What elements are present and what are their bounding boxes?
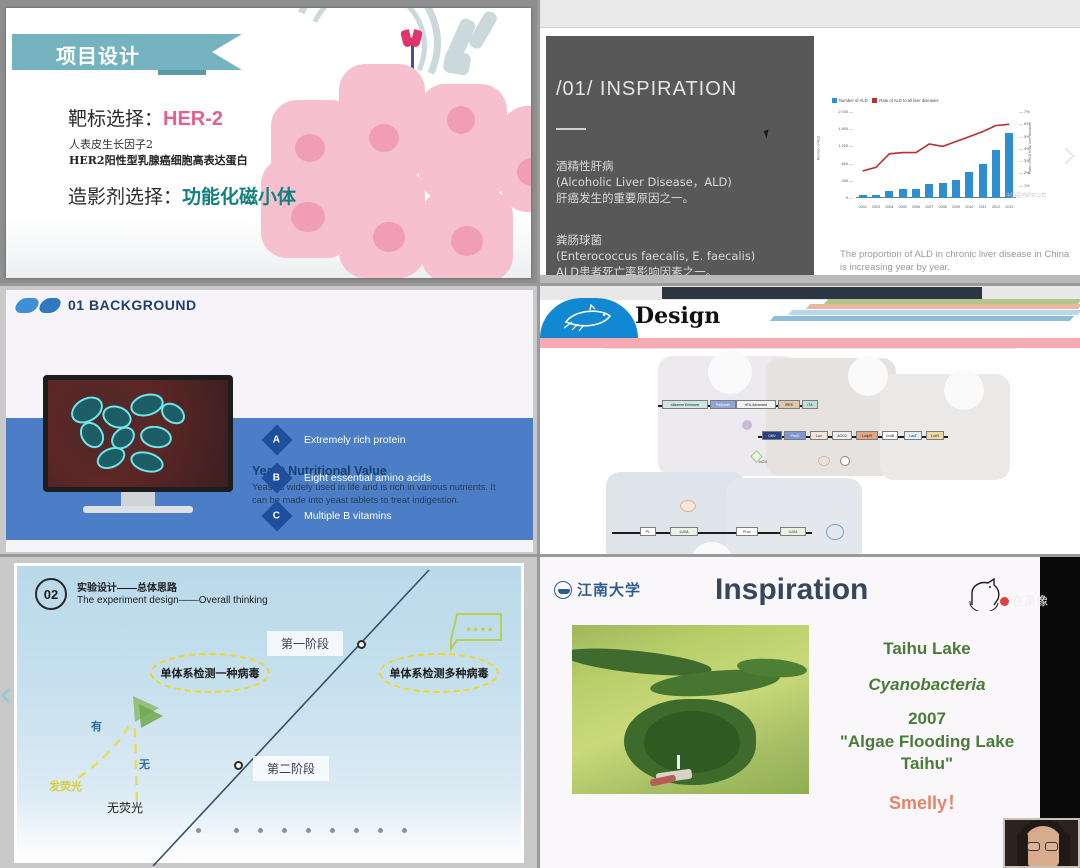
slide-panel-design[interactable]: Design Albumen Enhancer Palbumin (540, 286, 1080, 554)
gene-box-r3-0: PL (640, 527, 656, 536)
university-logo: 江南大学 (554, 579, 641, 600)
slide-dot[interactable] (196, 828, 201, 833)
header-accent-bars (16, 298, 62, 314)
experiment-title-cn: 实验设计——总体思路 (77, 579, 177, 594)
target-selection-value: HER-2 (163, 108, 223, 130)
gene-box-r1-0: Albumen Enhancer (662, 400, 708, 409)
chart-xtick: 2011 (976, 205, 990, 209)
contrast-agent-value: 功能化磁小体 (182, 186, 296, 208)
monitor-illustration (43, 375, 233, 500)
team-logo-whale-icon (540, 298, 638, 338)
slide-title-1: 项目设计 (56, 40, 140, 69)
bullet-a-label: Extremely rich protein (304, 434, 406, 446)
chart-bar (859, 195, 867, 198)
chart-y-axis-title: Number of ALD (816, 136, 820, 161)
slide-surface-3: 01 BACKGROUND Yeast Nutritional Val (6, 290, 533, 552)
title-underline (556, 128, 586, 130)
gene-box-r1-3: IRES (778, 400, 800, 409)
recording-label: 在录像 (1012, 592, 1048, 609)
target-sub-line-2: HER2阳性型乳腺癌细胞高表达蛋白 (69, 152, 248, 168)
slide-dot[interactable] (354, 828, 359, 833)
diamond-badge-a: A (261, 424, 292, 455)
gene-box-r3-2: PLux (736, 527, 758, 536)
next-slide-chevron-icon[interactable] (1058, 148, 1075, 165)
slide-dot[interactable] (378, 828, 383, 833)
panel4-dark-toolbar (662, 287, 982, 299)
ald-line-3: 肝癌发生的重要原因之一。 (556, 190, 732, 206)
text-taihu-lake: Taihu Lake (827, 639, 1027, 659)
chart-bar (939, 183, 947, 198)
ribbon-shadow (158, 70, 206, 75)
bullet-b-label: Eight essential amino acids (304, 472, 431, 484)
chart-bar (992, 150, 1000, 198)
panel2-bottom-shade (540, 275, 1080, 283)
chart-xtick: 2005 (896, 205, 910, 209)
webcam-thumbnail[interactable] (1003, 818, 1080, 868)
slide-number-badge: 02 (35, 578, 67, 610)
gene-box-r3-1: LUXA (670, 527, 698, 536)
slide-panel-background-yeast[interactable]: 01 BACKGROUND Yeast Nutritional Val (0, 286, 537, 554)
faecalis-text-block: 粪肠球菌 (Enterococcus faecalis, E. faecalis… (556, 232, 755, 280)
slide-dot[interactable] (402, 828, 407, 833)
chart-y2tick: — 2% (1019, 171, 1029, 175)
label-fluorescent: 发荧光 (49, 778, 82, 794)
university-name: 江南大学 (577, 579, 641, 600)
chart-xtick: 2012 (989, 205, 1003, 209)
chart-y2tick: — 5% (1019, 135, 1029, 139)
chart-y2tick: — 1% (1019, 184, 1029, 188)
screen-grid: 项目设计 靶标选择：HER-2 人表皮生长因子2 HER2阳性型乳腺癌细胞高表达… (0, 0, 1080, 868)
recording-indicator-icon (1000, 597, 1009, 606)
slide-dot[interactable] (258, 828, 263, 833)
slide-surface-1: 项目设计 靶标选择：HER-2 人表皮生长因子2 HER2阳性型乳腺癌细胞高表达… (6, 8, 531, 278)
chart-xtick: 2003 (869, 205, 883, 209)
chart-y2tick: — 7% (1019, 110, 1029, 114)
gene-box-r2-0: CMV (762, 431, 782, 440)
target-sub-line-1: 人表皮生长因子2 (69, 136, 153, 152)
gene-box-r3-3: LUXA (780, 527, 806, 536)
chart-plot-area: 0 —400 —800 —1 200 —1 600 —2 000 —— 1%— … (856, 112, 1016, 198)
chart-watermark: 中国医药研究公司 (1006, 192, 1046, 199)
gene-box-r1-2: rtTA-Advanced (736, 400, 776, 409)
stage-1-node (357, 640, 366, 649)
slide-panel-project-design[interactable]: 项目设计 靶标选择：HER-2 人表皮生长因子2 HER2阳性型乳腺癌细胞高表达… (0, 0, 537, 283)
ald-line-1: 酒精性肝病 (556, 158, 732, 174)
chart-xtick: 2009 (949, 205, 963, 209)
gene-box-r1-4: rTA (802, 400, 818, 409)
ald-line-2: (Alcoholic Liver Disease，ALD) (556, 174, 732, 190)
whale-glyph (560, 304, 618, 334)
slide-panel-experiment-design[interactable]: ★★★★ 02 实验设计——总体思路 The experiment design… (0, 557, 537, 868)
contrast-agent-line: 造影剂选择：功能化磁小体 (68, 182, 296, 209)
pink-accent-bar (540, 338, 1080, 348)
slide-title-6: Inspiration (715, 573, 868, 607)
thin-divider (604, 348, 1016, 349)
slide-dot[interactable] (330, 828, 335, 833)
stage-2-node (234, 761, 243, 770)
experiment-flow-diagram: ★★★★ (17, 566, 527, 866)
slide-dot[interactable] (282, 828, 287, 833)
gene-box-r1-1: Palbumin (710, 400, 736, 409)
stage-2-tag: 第二阶段 (253, 756, 329, 781)
slide-progress-dots[interactable] (196, 828, 407, 833)
ribbon-tail (212, 34, 242, 70)
chart-bar (965, 172, 973, 198)
text-algae-quote: "Algae Flooding Lake Taihu" (827, 731, 1027, 775)
diamond-badge-c: C (261, 500, 292, 531)
chart-bar (979, 164, 987, 198)
text-cyanobacteria: Cyanobacteria (827, 675, 1027, 695)
target-selection-prefix: 靶标选择： (68, 108, 163, 130)
team-horse-logo-icon (960, 575, 1006, 611)
bullet-b: B Eight essential amino acids (266, 467, 431, 489)
gene-box-r2-3: AGO2 (832, 431, 852, 440)
chart-y2tick: — 4% (1019, 147, 1029, 151)
legend-item-bar: Number of ALD (832, 98, 868, 103)
legend-item-line: Rate of ALD to all liver diseases (872, 98, 938, 103)
webcam-hair-right (1059, 832, 1070, 868)
chart-xtick: 2013 (1002, 205, 1016, 209)
chart-xtick: 2007 (922, 205, 936, 209)
gene-box-r2-7: LuxR (926, 431, 944, 440)
stage-1-tag: 第一阶段 (267, 631, 343, 656)
gene-box-r2-2: Lux (810, 431, 828, 440)
faecalis-line-2: (Enterococcus faecalis, E. faecalis) (556, 248, 755, 264)
chart-xtick: 2004 (882, 205, 896, 209)
target-selection-line: 靶标选择：HER-2 (68, 104, 223, 131)
chart-ytick: 1 600 — (838, 127, 852, 131)
chart-bar (912, 189, 920, 198)
experiment-title-en: The experiment design——Overall thinking (77, 595, 268, 606)
ellipse-single-virus: 单体系检测一种病毒 (150, 653, 270, 693)
chart-bar (899, 189, 907, 198)
gene-box-r2-1: PtetO (784, 431, 806, 440)
slide-title-3: 01 BACKGROUND (68, 297, 197, 313)
chart-xtick: 2008 (936, 205, 950, 209)
panel2-window-chrome (540, 0, 1080, 28)
breast-cell-illustration (261, 8, 531, 278)
svg-text:★★★★: ★★★★ (465, 625, 494, 634)
taihu-lake-photo (572, 625, 809, 794)
chart-ytick: 1 200 — (838, 144, 852, 148)
slide-title-2: /01/ INSPIRATION (556, 78, 737, 101)
gene-box-r2-5: CcdB (882, 431, 898, 440)
chart-bar (1005, 133, 1013, 198)
chart-y2tick: — 6% (1019, 122, 1029, 126)
chart-xtick: 2006 (909, 205, 923, 209)
slide-title-4: Design (635, 303, 720, 329)
chart-ytick: 2 000 — (838, 110, 852, 114)
label-has: 有 (91, 718, 102, 734)
gene-box-r2-6: LacZ (904, 431, 922, 440)
chart-ytick: 400 — (842, 179, 853, 183)
slide-dot[interactable] (306, 828, 311, 833)
slide-surface-4: Design Albumen Enhancer Palbumin (540, 286, 1080, 554)
chart-ytick: 0 — (846, 196, 853, 200)
contrast-agent-prefix: 造影剂选择： (68, 186, 182, 208)
chart-bar (952, 180, 960, 198)
bullet-a: A Extremely rich protein (266, 429, 406, 451)
university-seal-icon (554, 581, 572, 599)
chart-bar (872, 195, 880, 198)
chart-ytick: 800 — (842, 162, 853, 166)
monitor-base (83, 506, 193, 513)
ald-chart: Number of ALD Rate of ALD to all liver d… (822, 98, 1052, 223)
chart-xtick: 2010 (962, 205, 976, 209)
text-year: 2007 (827, 709, 1027, 729)
webcam-hair-left (1017, 832, 1028, 868)
chart-xtick: 2002 (856, 205, 870, 209)
slide-surface-5: ★★★★ 02 实验设计——总体思路 The experiment design… (14, 563, 524, 863)
webcam-glasses-right (1045, 842, 1058, 851)
text-smelly: Smelly！ (827, 789, 1027, 815)
label-no-fluorescent: 无荧光 (107, 799, 143, 816)
diamond-badge-b: B (261, 462, 292, 493)
ellipse-multi-virus: 单体系检测多种病毒 (379, 653, 499, 693)
chart-legend: Number of ALD Rate of ALD to all liver d… (832, 98, 938, 103)
ald-text-block: 酒精性肝病 (Alcoholic Liver Disease，ALD) 肝癌发生… (556, 158, 732, 206)
monitor-screen (48, 380, 228, 487)
webcam-glasses-left (1027, 842, 1040, 851)
chart-caption: The proportion of ALD in chronic liver d… (840, 248, 1070, 274)
gene-box-r2-4: LuxpR (856, 431, 878, 440)
chart-bar (885, 191, 893, 198)
bullet-c-label: Multiple B vitamins (304, 510, 392, 522)
slide-dot[interactable] (234, 828, 239, 833)
bullet-c: C Multiple B vitamins (266, 505, 392, 527)
chart-bar (925, 184, 933, 198)
faecalis-line-1: 粪肠球菌 (556, 232, 755, 248)
chart-y2tick: — 3% (1019, 159, 1029, 163)
label-none: 无 (139, 756, 150, 772)
